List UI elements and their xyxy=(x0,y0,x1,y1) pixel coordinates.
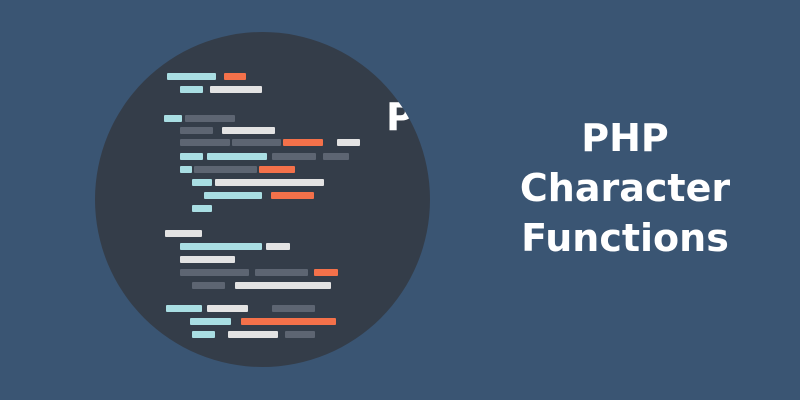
code-bar xyxy=(192,205,212,212)
code-bar xyxy=(271,192,314,199)
code-bar xyxy=(255,269,308,276)
code-bar xyxy=(285,331,315,338)
title-line-2: Character xyxy=(470,163,780,213)
code-bar xyxy=(207,153,267,160)
title-line-3: Functions xyxy=(470,213,780,263)
code-bar xyxy=(210,86,262,93)
code-bar xyxy=(215,179,324,186)
code-bar xyxy=(283,139,323,146)
code-bar xyxy=(180,127,213,134)
code-illustration-circle: PHP xyxy=(95,32,430,367)
code-bar xyxy=(232,139,281,146)
code-bar xyxy=(165,230,202,237)
code-bar xyxy=(164,115,182,122)
code-bar xyxy=(323,153,349,160)
code-bar xyxy=(180,269,249,276)
code-bar xyxy=(180,86,203,93)
code-bar xyxy=(180,139,230,146)
code-bar xyxy=(272,153,316,160)
php-logo-text: PHP xyxy=(386,98,430,136)
code-bar xyxy=(259,166,295,173)
code-bar xyxy=(235,282,331,289)
code-bar xyxy=(192,331,215,338)
code-bar xyxy=(166,305,202,312)
code-bar xyxy=(192,179,212,186)
code-bar xyxy=(180,166,192,173)
title-line-1: PHP xyxy=(470,113,780,163)
code-bar xyxy=(180,243,262,250)
code-bar xyxy=(207,305,248,312)
page-title: PHP Character Functions xyxy=(470,113,780,263)
code-bar xyxy=(204,192,262,199)
code-bar xyxy=(241,318,336,325)
code-bar xyxy=(167,73,216,80)
code-bar xyxy=(222,127,275,134)
banner-graphic: PHP PHP Character Functions xyxy=(0,0,800,400)
code-bar xyxy=(314,269,338,276)
code-bar xyxy=(266,243,290,250)
code-bar xyxy=(337,139,360,146)
code-bar xyxy=(180,153,203,160)
code-bar xyxy=(185,115,235,122)
code-bar xyxy=(272,305,315,312)
code-bar xyxy=(194,166,257,173)
code-bar xyxy=(224,73,246,80)
code-bar xyxy=(192,282,225,289)
code-bar xyxy=(190,318,231,325)
code-bar xyxy=(228,331,278,338)
code-bar xyxy=(180,256,235,263)
